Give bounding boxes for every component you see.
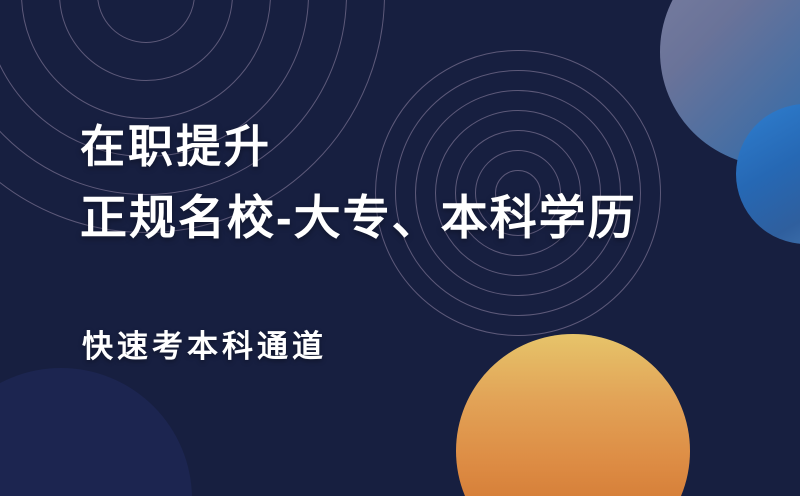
ring-2 <box>59 0 233 81</box>
orange-sun-disc <box>456 334 690 496</box>
promo-banner: 在职提升 正规名校-大专、本科学历 快速考本科通道 <box>0 0 800 496</box>
headline-line-1: 在职提升 <box>80 124 637 169</box>
muted-gradient-disc <box>660 0 800 166</box>
headline-block: 在职提升 正规名校-大专、本科学历 <box>80 124 637 241</box>
soft-navy-disc <box>0 368 192 496</box>
ring-1 <box>97 0 195 43</box>
blue-disc <box>736 104 800 244</box>
ring-3 <box>21 0 271 119</box>
headline-line-2: 正规名校-大专、本科学历 <box>80 194 637 241</box>
subline-text: 快速考本科通道 <box>82 321 327 366</box>
